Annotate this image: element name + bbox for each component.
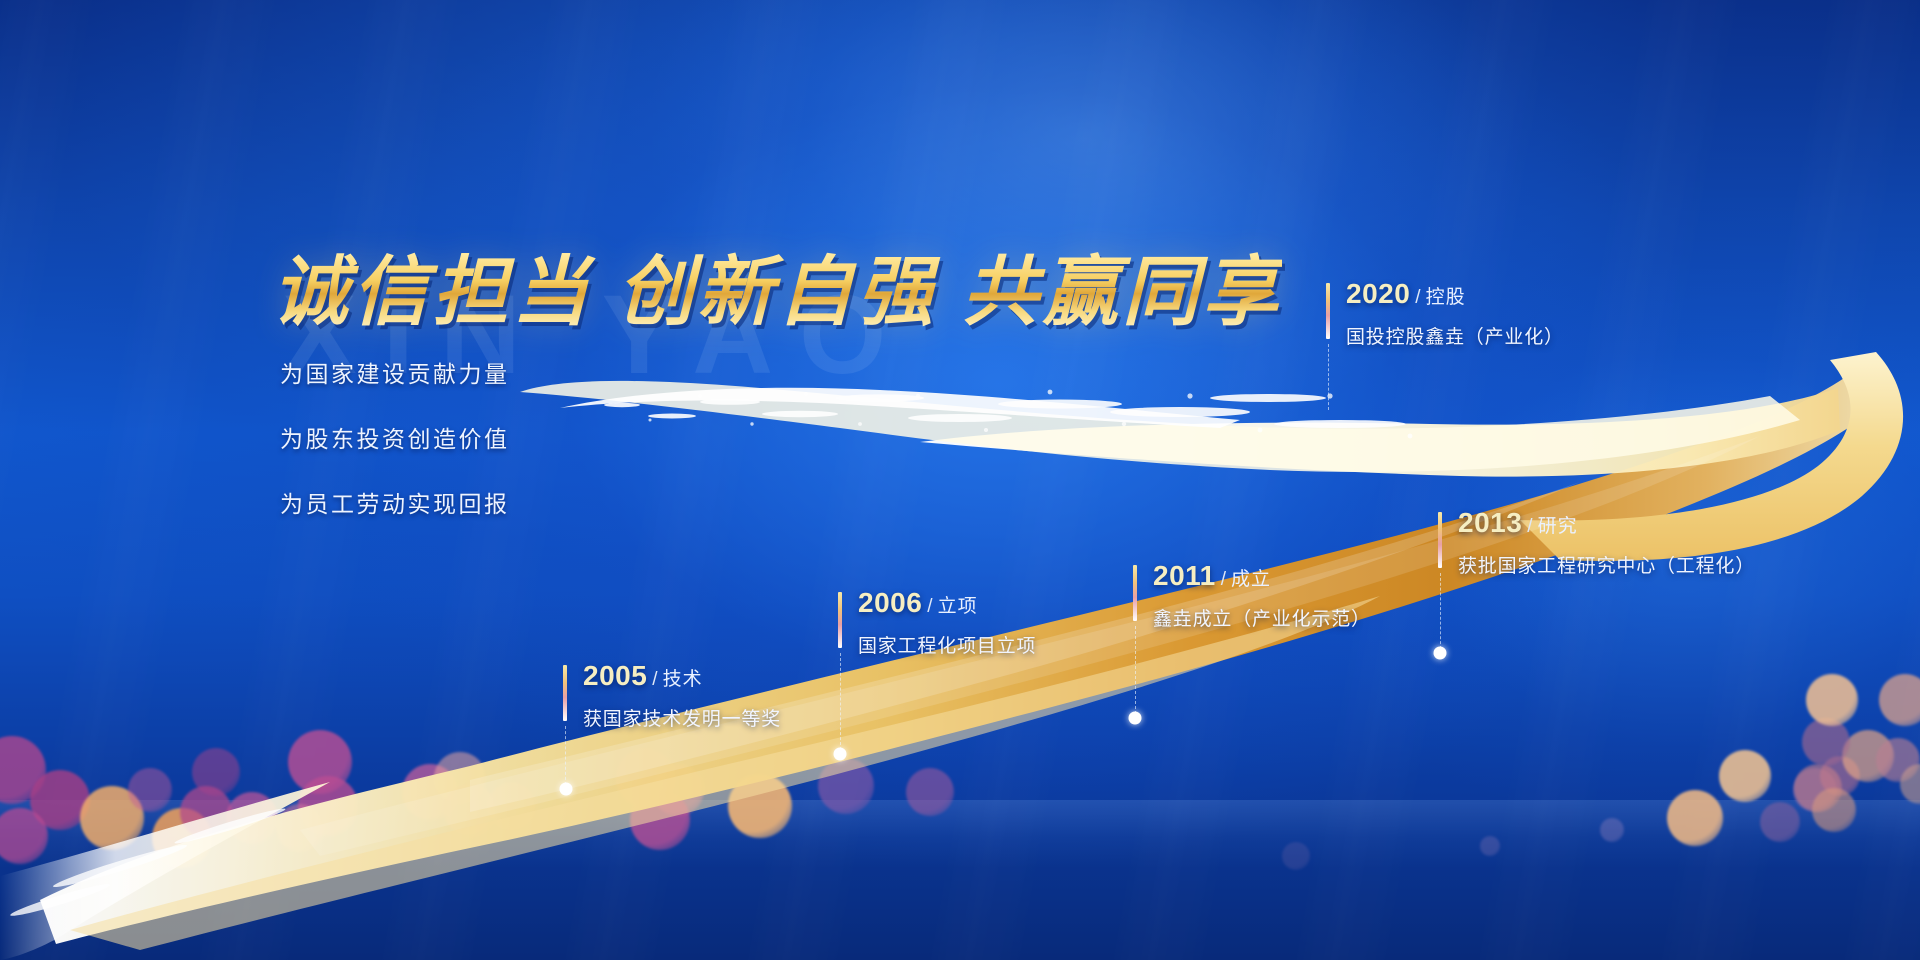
milestone-year: 2011 bbox=[1153, 560, 1216, 591]
milestone-text: 2020/控股国投控股鑫垚（产业化） bbox=[1346, 280, 1564, 349]
bokeh-light bbox=[1719, 750, 1771, 802]
bokeh-light bbox=[616, 748, 676, 808]
bokeh-light bbox=[1667, 790, 1723, 846]
milestone-year-row: 2020/控股 bbox=[1346, 280, 1564, 308]
subtitle-line-1: 为国家建设贡献力量 bbox=[280, 355, 510, 389]
milestone-leader-line bbox=[840, 653, 841, 750]
bokeh-light bbox=[1806, 674, 1858, 726]
bokeh-light bbox=[1876, 738, 1920, 782]
milestone-accent-bar bbox=[1133, 565, 1137, 621]
horizon-band bbox=[0, 800, 1920, 868]
milestone-text: 2005/技术获国家技术发明一等奖 bbox=[583, 662, 781, 731]
milestone-text: 2011/成立鑫垚成立（产业化示范） bbox=[1153, 562, 1371, 631]
milestone-description: 获国家技术发明一等奖 bbox=[583, 704, 781, 731]
bokeh-light bbox=[180, 786, 232, 838]
milestone-year-row: 2011/成立 bbox=[1153, 562, 1371, 590]
bokeh-light bbox=[818, 758, 874, 814]
milestone-description: 国投控股鑫垚（产业化） bbox=[1346, 322, 1564, 349]
bokeh-light bbox=[288, 730, 352, 794]
milestone-accent-bar bbox=[1438, 512, 1442, 568]
subtitle-line-3: 为员工劳动实现回报 bbox=[280, 485, 510, 519]
page-title: 诚信担当 创新自强 共赢同享 bbox=[272, 230, 1282, 340]
bokeh-light bbox=[80, 786, 144, 850]
milestone-separator: / bbox=[1527, 516, 1532, 537]
bokeh-light bbox=[652, 764, 704, 816]
bokeh-light bbox=[444, 784, 496, 836]
milestone-tag: 研究 bbox=[1538, 516, 1578, 537]
milestone-tag: 技术 bbox=[663, 669, 703, 690]
bokeh-light bbox=[1820, 756, 1860, 796]
bokeh-light bbox=[1282, 842, 1310, 870]
bokeh-light bbox=[298, 776, 358, 836]
milestone-description: 鑫垚成立（产业化示范） bbox=[1153, 604, 1371, 631]
bokeh-light bbox=[434, 752, 486, 804]
milestone-accent-bar bbox=[563, 665, 567, 721]
milestone-dot[interactable] bbox=[834, 748, 847, 761]
bokeh-light bbox=[728, 774, 792, 838]
bokeh-light bbox=[128, 768, 172, 812]
bokeh-light bbox=[1900, 764, 1920, 804]
milestone-year: 2020 bbox=[1346, 278, 1410, 309]
subtitle-line-2: 为股东投资创造价值 bbox=[280, 420, 510, 454]
milestone-text: 2006/立项国家工程化项目立项 bbox=[858, 589, 1036, 658]
subtitle-list: 为国家建设贡献力量 为股东投资创造价值 为员工劳动实现回报 bbox=[280, 355, 510, 550]
bokeh-light bbox=[276, 804, 324, 852]
milestone-separator: / bbox=[927, 596, 932, 617]
bokeh-light bbox=[1842, 730, 1894, 782]
milestone-tag: 成立 bbox=[1231, 569, 1271, 590]
bokeh-light bbox=[1802, 718, 1850, 766]
milestone-year-row: 2006/立项 bbox=[858, 589, 1036, 617]
milestone-separator: / bbox=[1415, 287, 1420, 308]
milestone-description: 获批国家工程研究中心（工程化） bbox=[1458, 551, 1755, 578]
milestone-leader-line bbox=[565, 726, 566, 785]
hero-title-block: XIN YAO 诚信担当 创新自强 共赢同享 bbox=[272, 230, 1282, 340]
bokeh-light bbox=[1480, 836, 1500, 856]
bokeh-light bbox=[906, 768, 954, 816]
milestone-leader-line bbox=[1328, 344, 1329, 410]
milestone-year: 2006 bbox=[858, 587, 922, 618]
bokeh-light bbox=[1793, 768, 1837, 812]
milestone-tag: 控股 bbox=[1426, 287, 1466, 308]
milestone-accent-bar bbox=[1326, 283, 1330, 339]
bokeh-light bbox=[402, 764, 458, 820]
bokeh-light bbox=[630, 790, 690, 850]
bokeh-light bbox=[1879, 674, 1920, 726]
milestone-accent-bar bbox=[838, 592, 842, 648]
milestone-separator: / bbox=[1221, 569, 1226, 590]
milestone-year-row: 2013/研究 bbox=[1458, 509, 1755, 537]
bokeh-light bbox=[1794, 764, 1842, 812]
milestone-separator: / bbox=[652, 669, 657, 690]
bokeh-light bbox=[152, 808, 212, 868]
milestone-dot[interactable] bbox=[1129, 712, 1142, 725]
bokeh-light bbox=[1760, 802, 1800, 842]
bokeh-light bbox=[1812, 788, 1856, 832]
bokeh-light bbox=[1600, 818, 1624, 842]
bokeh-light bbox=[0, 808, 48, 864]
milestone-year-row: 2005/技术 bbox=[583, 662, 781, 690]
milestone-tag: 立项 bbox=[938, 596, 978, 617]
milestone-dot[interactable] bbox=[560, 783, 573, 796]
milestone-text: 2013/研究获批国家工程研究中心（工程化） bbox=[1458, 509, 1755, 578]
bokeh-light bbox=[192, 748, 240, 796]
bokeh-light bbox=[30, 770, 90, 830]
milestone-year: 2013 bbox=[1458, 507, 1522, 538]
top-glow bbox=[653, 0, 1513, 447]
milestone-dot[interactable] bbox=[1434, 647, 1447, 660]
bokeh-light bbox=[488, 782, 536, 830]
milestone-leader-line bbox=[1440, 573, 1441, 649]
milestone-description: 国家工程化项目立项 bbox=[858, 631, 1036, 658]
milestone-year: 2005 bbox=[583, 660, 647, 691]
hero-banner: XIN YAO 诚信担当 创新自强 共赢同享 为国家建设贡献力量 为股东投资创造… bbox=[0, 0, 1920, 960]
bokeh-light bbox=[226, 792, 278, 844]
milestone-leader-line bbox=[1135, 626, 1136, 714]
bokeh-light bbox=[0, 736, 46, 804]
